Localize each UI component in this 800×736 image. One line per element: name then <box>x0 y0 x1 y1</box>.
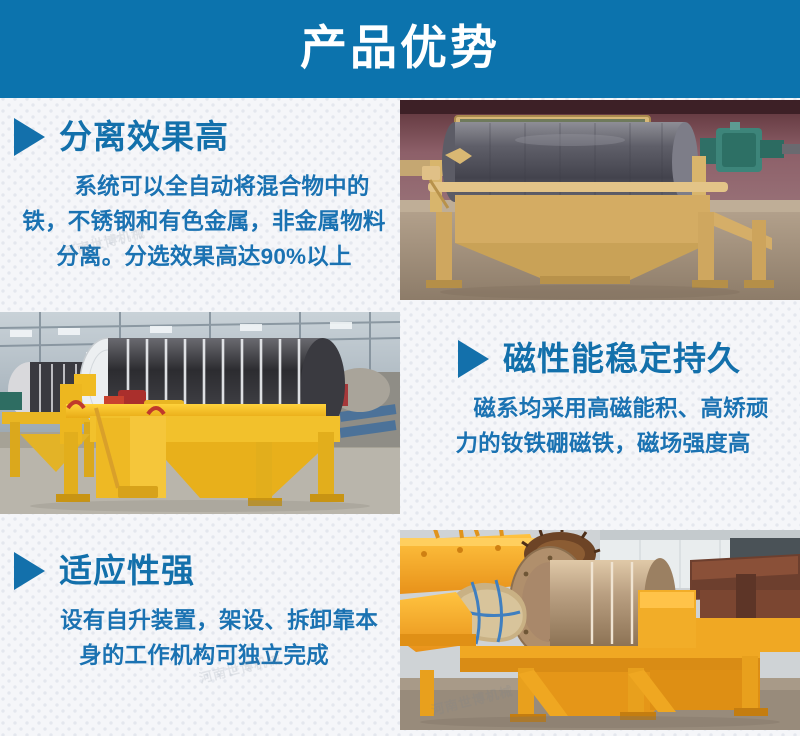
feature-1-title: 分离效果高 <box>59 119 229 155</box>
magnetic-separator-drum-photo <box>400 100 800 300</box>
feature-3-heading: 适应性强 <box>0 552 400 590</box>
feature-block-3: 适应性强 设有自升装置，架设、拆卸靠本身的工作机构可独立完成 <box>0 552 400 674</box>
feature-2-heading: 磁性能稳定持久 <box>400 340 800 378</box>
feature-1-body: 系统可以全自动将混合物中的铁，不锈钢和有色金属，非金属物料分离。分选效果高达90… <box>0 170 400 275</box>
product-advantages-page: 产品优势 分离效果高 系统可以全自动将混合物中的铁，不锈钢和有色金属，非金属物料… <box>0 0 800 736</box>
feature-3-body: 设有自升装置，架设、拆卸靠本身的工作机构可独立完成 <box>0 604 400 674</box>
page-title: 产品优势 <box>300 24 500 71</box>
feature-2-body: 磁系均采用高磁能积、高矫顽力的钕铁硼磁铁，磁场强度高 <box>400 392 800 462</box>
orange-separator-outdoor-photo <box>400 530 800 730</box>
feature-block-1: 分离效果高 系统可以全自动将混合物中的铁，不锈钢和有色金属，非金属物料分离。分选… <box>0 118 400 275</box>
triangle-right-icon <box>458 340 489 378</box>
triangle-right-icon <box>14 552 45 590</box>
feature-block-2: 磁性能稳定持久 磁系均采用高磁能积、高矫顽力的钕铁硼磁铁，磁场强度高 <box>400 340 800 462</box>
triangle-right-icon <box>14 118 45 156</box>
yellow-magnetic-separator-factory-photo <box>0 312 400 514</box>
feature-2-title: 磁性能稳定持久 <box>503 341 741 377</box>
feature-1-heading: 分离效果高 <box>0 118 400 156</box>
page-banner: 产品优势 <box>0 0 800 98</box>
feature-3-title: 适应性强 <box>59 553 195 589</box>
